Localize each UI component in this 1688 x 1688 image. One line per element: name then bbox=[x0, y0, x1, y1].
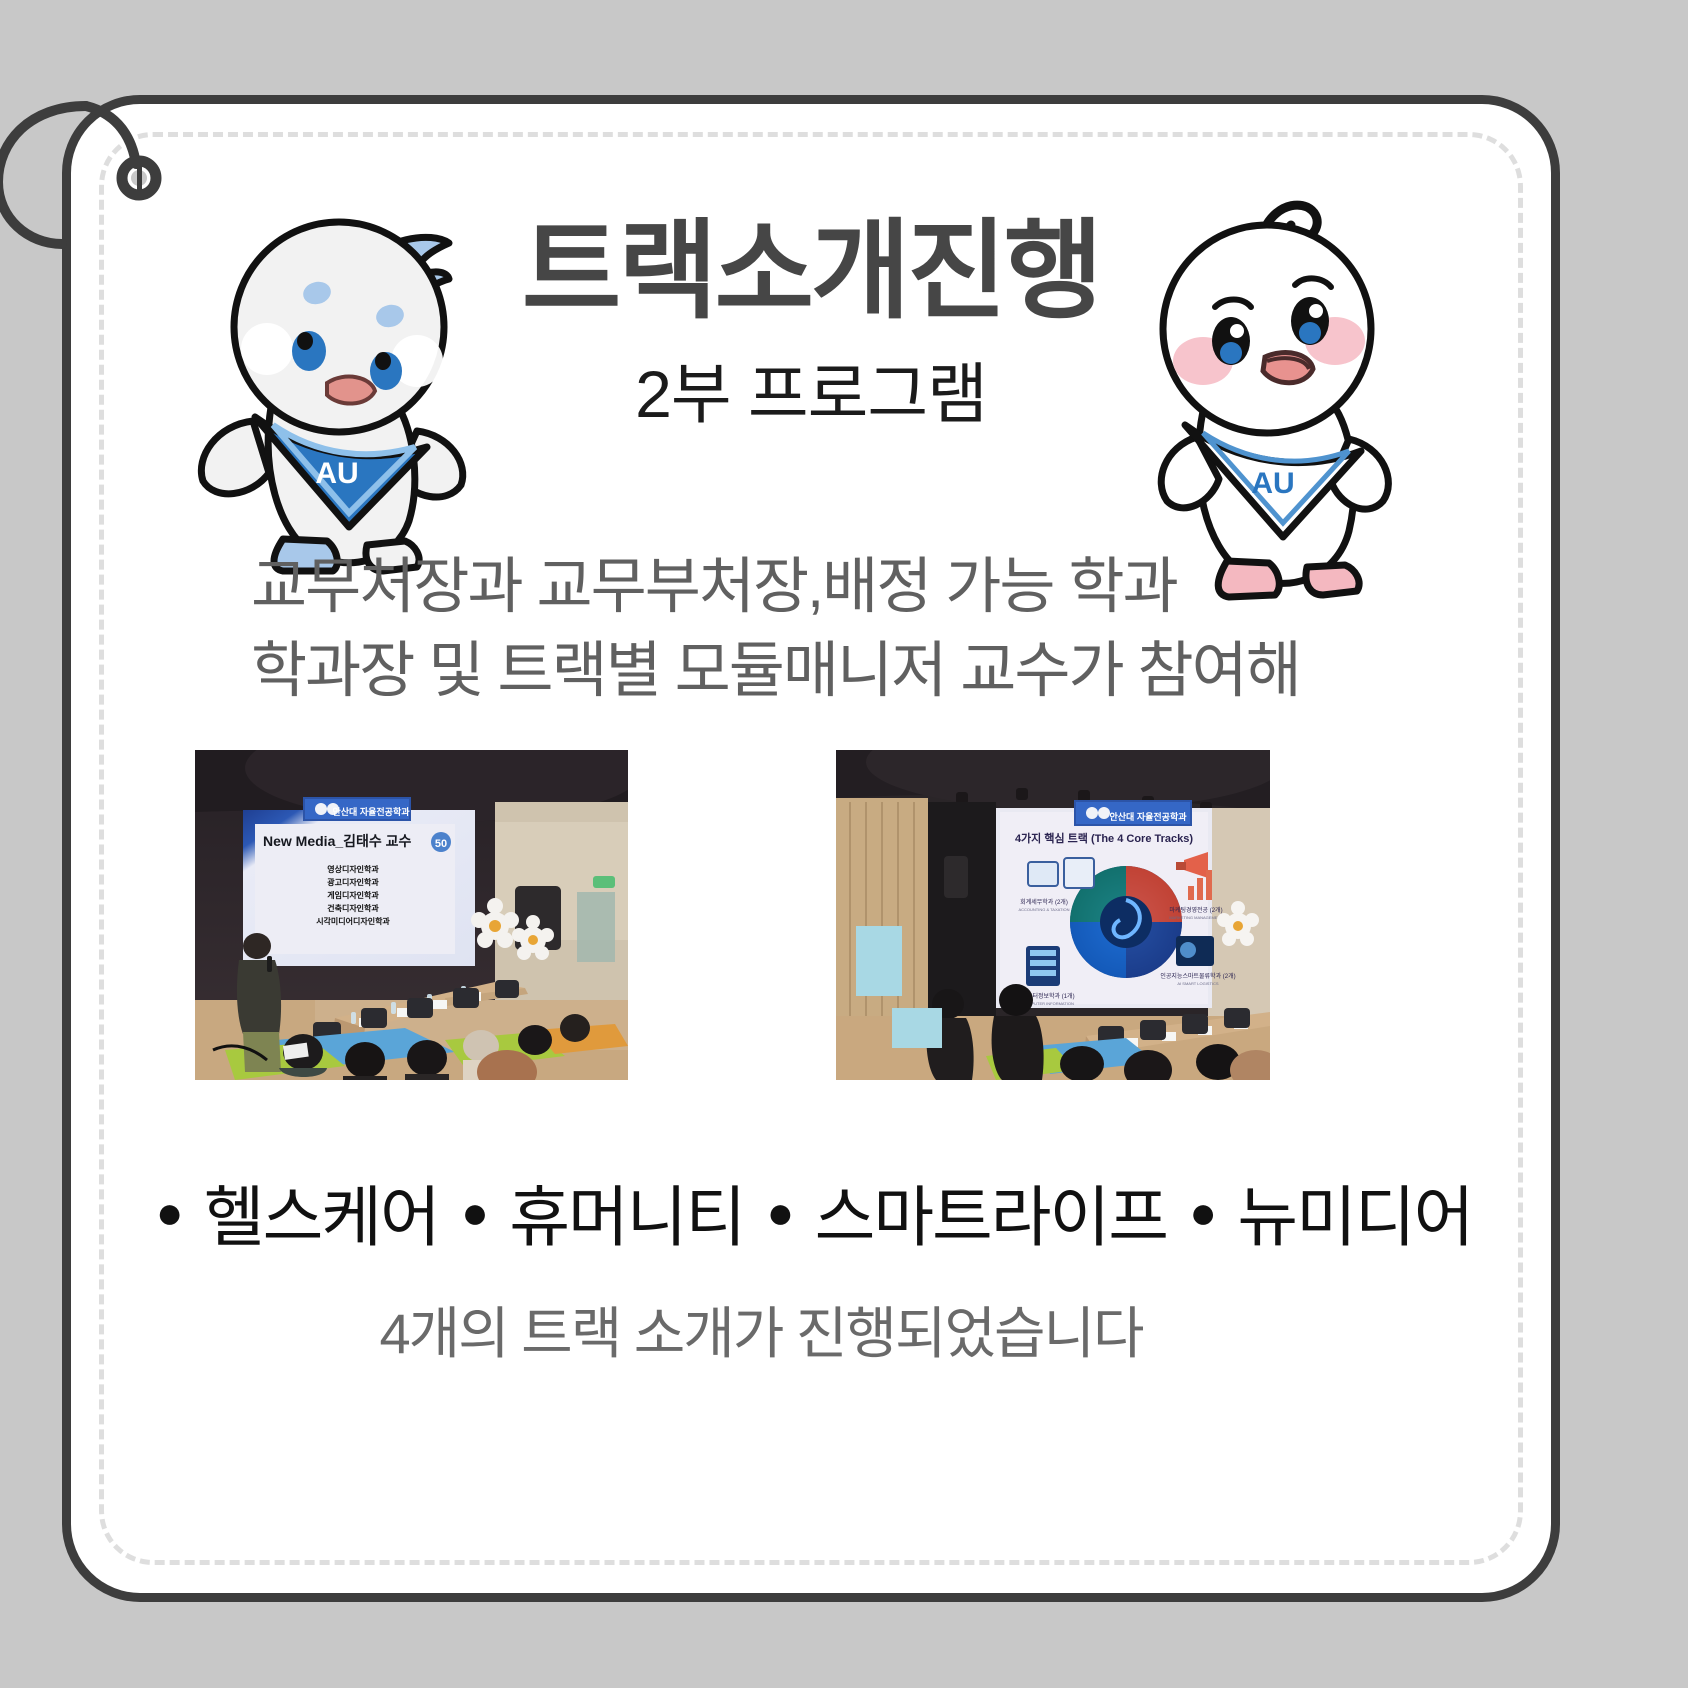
track-item-humanity: 휴머니티 bbox=[509, 1180, 744, 1254]
track-bullet-3: ● bbox=[760, 1186, 798, 1238]
svg-text:마케팅경영전공 (2개): 마케팅경영전공 (2개) bbox=[1169, 906, 1222, 914]
photo-four-core-tracks: 안산대 자율전공학과 4가지 핵심 트랙 (The 4 Core Tracks) bbox=[836, 750, 1270, 1080]
svg-text:4가지 핵심 트랙 (The 4 Core Tracks): 4가지 핵심 트랙 (The 4 Core Tracks) bbox=[1015, 831, 1193, 845]
track-item-smartlife: 스마트라이프 bbox=[815, 1180, 1167, 1254]
description-block: 교무처장과 교무부처장,배정 가능 학과 학과장 및 트랙별 모듈매니저 교수가… bbox=[189, 544, 1491, 712]
svg-text:MARKETING MANAGEMENT: MARKETING MANAGEMENT bbox=[1169, 915, 1223, 920]
mascot-bandana-label: AU bbox=[315, 457, 358, 490]
svg-text:영상디자인학과: 영상디자인학과 bbox=[327, 864, 379, 874]
svg-text:회계세무학과 (2개): 회계세무학과 (2개) bbox=[1020, 898, 1068, 906]
svg-text:ACCOUNTING & TAXATION: ACCOUNTING & TAXATION bbox=[1018, 907, 1069, 912]
svg-text:안산대 자율전공학과: 안산대 자율전공학과 bbox=[1109, 811, 1187, 822]
description-line-1: 교무처장과 교무부처장,배정 가능 학과 bbox=[251, 544, 1491, 628]
mascot-beak bbox=[327, 377, 375, 404]
track-item-newmedia: 뉴미디어 bbox=[1237, 1180, 1472, 1254]
svg-text:New Media_김태수 교수: New Media_김태수 교수 bbox=[263, 833, 412, 849]
tracks-list: ● 헬스케어 ● 휴머니티 ● 스마트라이프 ● 뉴미디어 bbox=[71, 1164, 1551, 1260]
svg-text:시각미디어디자인학과: 시각미디어디자인학과 bbox=[316, 916, 390, 926]
photo-new-media-session: 안산대 자율전공학과 New Media_김태수 교수 50 영상디자인학과 광… bbox=[195, 750, 628, 1080]
penguin-mascot: AU bbox=[181, 209, 481, 579]
mascot-blush-left bbox=[241, 323, 293, 375]
track-bullet-1: ● bbox=[150, 1186, 188, 1238]
footnote-text: 4개의 트랙 소개가 진행되었습니다 bbox=[71, 1289, 1551, 1370]
svg-text:AI SMART LOGISTICS: AI SMART LOGISTICS bbox=[1177, 981, 1219, 986]
track-bullet-4: ● bbox=[1183, 1186, 1221, 1238]
poster-card: 트랙소개진행 2부 프로그램 bbox=[62, 95, 1560, 1602]
svg-text:광고디자인학과: 광고디자인학과 bbox=[327, 877, 379, 887]
track-item-healthcare: 헬스케어 bbox=[204, 1180, 439, 1254]
mascot-bandana-label: AU bbox=[1251, 467, 1294, 500]
svg-text:50: 50 bbox=[435, 838, 447, 850]
svg-text:건축디자인학과: 건축디자인학과 bbox=[327, 903, 379, 913]
svg-text:게임디자인학과: 게임디자인학과 bbox=[327, 890, 379, 900]
description-line-2: 학과장 및 트랙별 모듈매니저 교수가 참여해 bbox=[251, 628, 1491, 712]
svg-text:안산대 자율전공학과: 안산대 자율전공학과 bbox=[332, 806, 410, 817]
track-bullet-2: ● bbox=[455, 1186, 493, 1238]
svg-text:인공지능스마트물류학과 (2개): 인공지능스마트물류학과 (2개) bbox=[1160, 972, 1235, 980]
photo-row: 안산대 자율전공학과 New Media_김태수 교수 50 영상디자인학과 광… bbox=[71, 750, 1551, 1080]
